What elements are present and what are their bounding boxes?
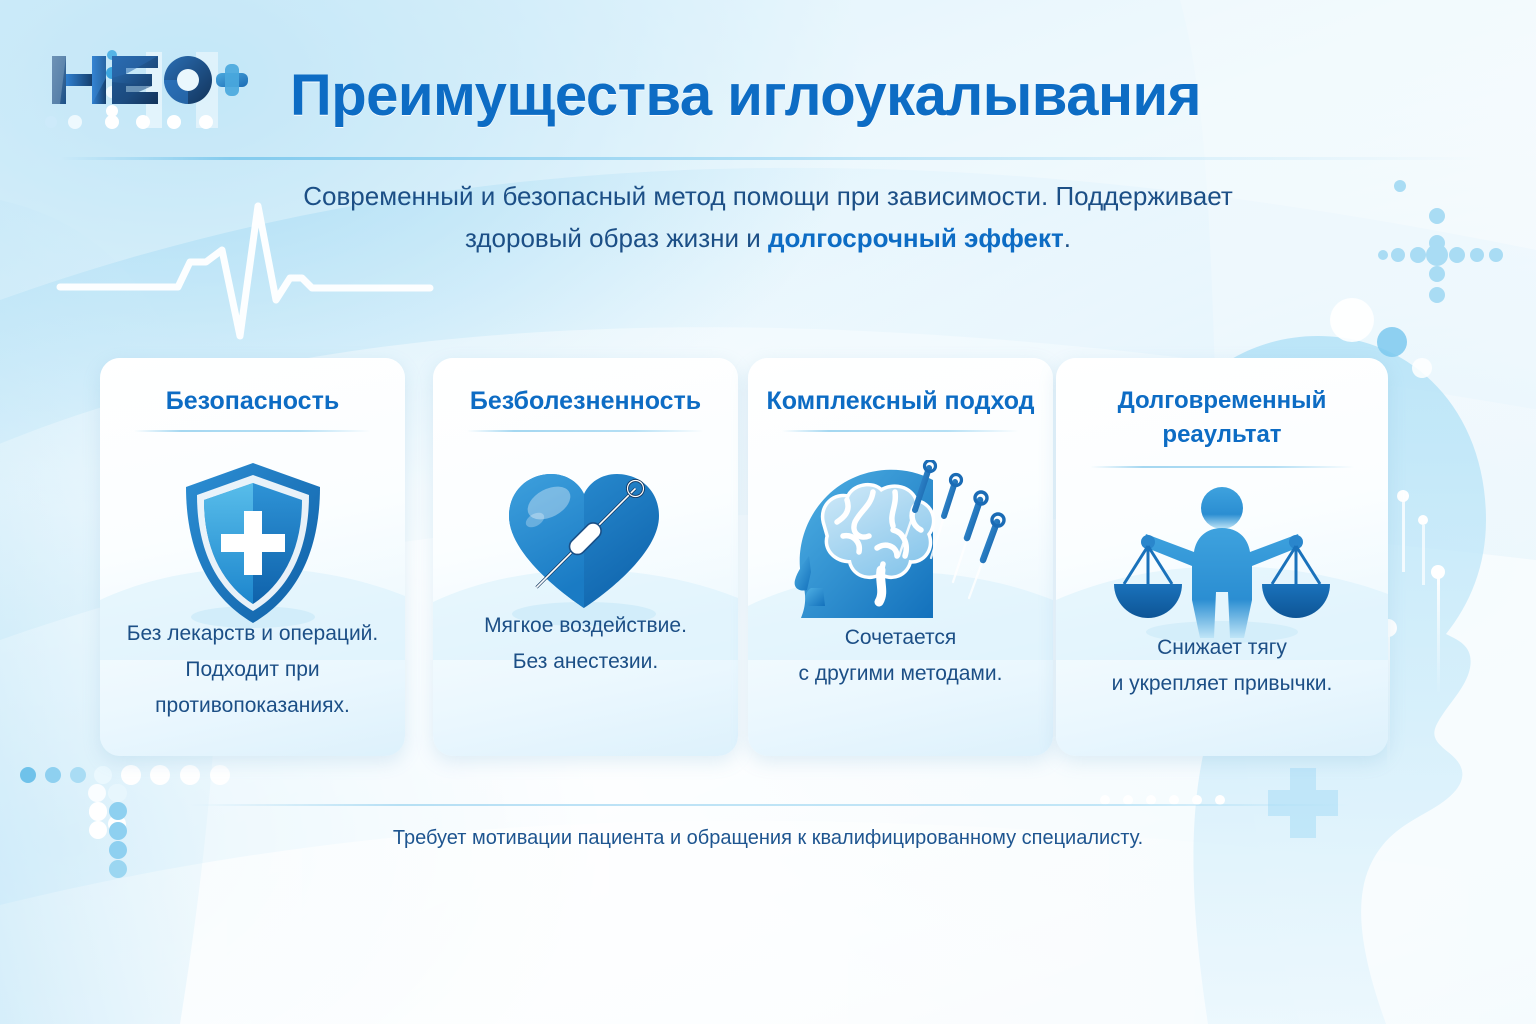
subtitle-line-2: здоровый образ жизни и долгосрочный эффе… (268, 217, 1268, 259)
subtitle-highlight: долгосрочный эффект (768, 223, 1064, 253)
card-body-line-2: Подходит при (114, 652, 391, 688)
circle-accents (1330, 180, 1432, 378)
card-heading: Долговременный реаультат (1056, 384, 1388, 452)
card-heading: Комплексный подход (748, 384, 1053, 418)
footer-note: Требует мотивации пациента и обращения к… (268, 822, 1268, 854)
card-icon-wrap (748, 450, 1053, 640)
card-body-line-1: Без лекарств и операций. (114, 616, 391, 652)
card-body: Без лекарств и операций. Подходит при пр… (114, 616, 391, 724)
head-brain-needles-icon (781, 460, 1021, 630)
card-body-line-2: Без анестезии. (447, 644, 724, 680)
footer-divider (190, 804, 1350, 806)
card-body-line-3: противопоказаниях. (114, 688, 391, 724)
brand-logo[interactable] (48, 48, 248, 112)
infographic-stage: Преимущества иглоукалывания Современный … (0, 0, 1536, 1024)
card-heading-line-1: Долговременный (1064, 384, 1380, 418)
right-needle-accents (1397, 490, 1428, 585)
card-divider (1090, 466, 1354, 468)
benefit-card-list: Безопасность (100, 358, 1400, 758)
balance-scales-person-icon (1102, 480, 1342, 645)
card-icon-wrap (100, 450, 405, 640)
neo-plus-logo-icon (48, 48, 248, 112)
page-header: Преимущества иглоукалывания (0, 0, 1536, 150)
card-body-line-2: с другими методами. (762, 656, 1039, 692)
subtitle-line-2-suffix: . (1064, 223, 1071, 253)
benefit-card-complex-approach[interactable]: Комплексный подход (748, 358, 1053, 756)
subtitle-block: Современный и безопасный метод помощи пр… (268, 175, 1268, 259)
card-divider (467, 430, 704, 432)
shield-cross-icon (178, 459, 328, 631)
benefit-card-safety[interactable]: Безопасность (100, 358, 405, 756)
plus-shape-icon (1268, 768, 1338, 838)
card-body-line-1: Снижает тягу (1070, 630, 1374, 666)
card-heading-line-2: реаультат (1064, 418, 1380, 452)
card-divider (134, 430, 371, 432)
card-icon-wrap (1056, 470, 1388, 655)
card-body-line-1: Мягкое воздействие. (447, 608, 724, 644)
page-title: Преимущества иглоукалывания (290, 58, 1290, 134)
header-divider (60, 157, 1480, 160)
heart-needle-icon (491, 458, 681, 633)
subtitle-line-1: Современный и безопасный метод помощи пр… (268, 175, 1268, 217)
card-body: Мягкое воздействие. Без анестезии. (447, 608, 724, 680)
card-body: Снижает тягу и укрепляет привычки. (1070, 630, 1374, 702)
card-body-line-2: и укрепляет привычки. (1070, 666, 1374, 702)
card-heading: Безопасность (100, 384, 405, 418)
card-heading: Безболезненность (433, 384, 738, 418)
subtitle-line-2-prefix: здоровый образ жизни и (465, 223, 768, 253)
dotted-grid-icon (20, 765, 230, 878)
benefit-card-painless[interactable]: Безболезненность (433, 358, 738, 756)
card-body-line-1: Сочетается (762, 620, 1039, 656)
card-body: Сочетается с другими методами. (762, 620, 1039, 692)
benefit-card-long-term-result[interactable]: Долговременный реаультат (1056, 358, 1388, 756)
card-divider (782, 430, 1019, 432)
dotted-cross-icon (1378, 208, 1503, 303)
